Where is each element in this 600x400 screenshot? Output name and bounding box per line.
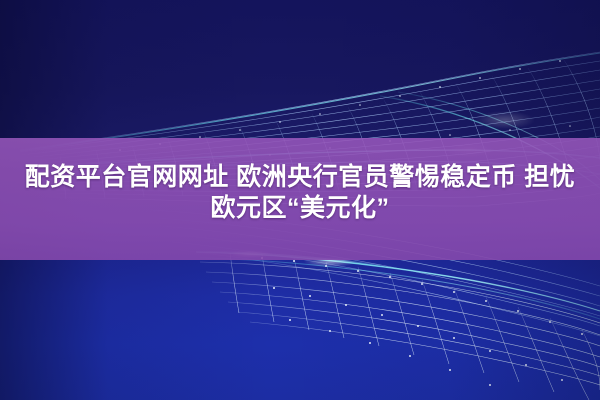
headline-text: 配资平台官网网址 欧洲央行官员警惕稳定币 担忧 欧元区“美元化” [0,162,600,223]
headline-line-2: 欧元区“美元化” [0,193,600,224]
banner-graphic: 配资平台官网网址 欧洲央行官员警惕稳定币 担忧 欧元区“美元化” [0,0,600,400]
headline-line-1: 配资平台官网网址 欧洲央行官员警惕稳定币 担忧 [0,162,600,193]
